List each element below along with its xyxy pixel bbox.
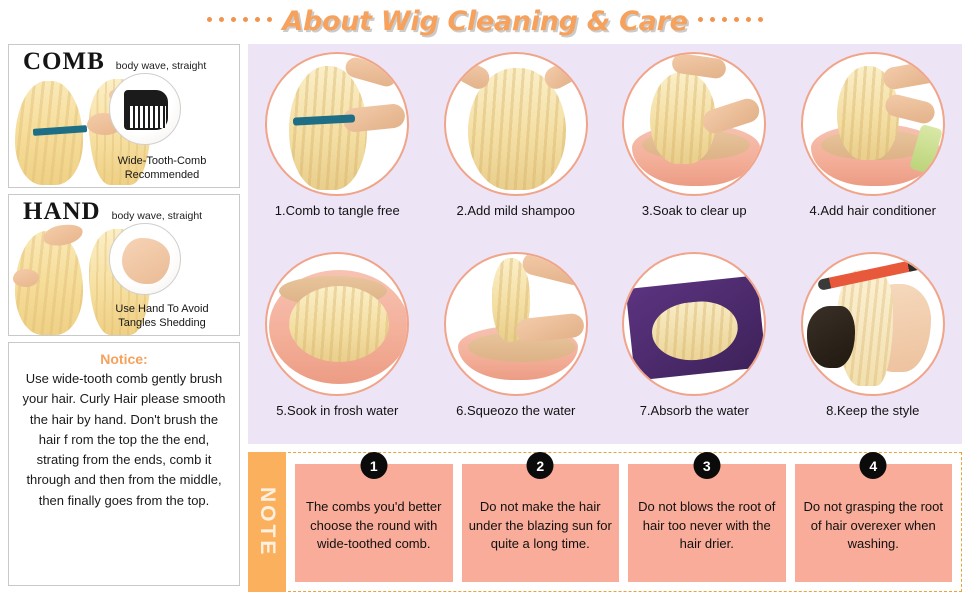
note-badge: 2 <box>527 452 554 479</box>
notice-title: Notice: <box>19 351 229 367</box>
title-dot <box>722 17 727 22</box>
note-card: 1 The combs you'd better choose the roun… <box>295 464 453 582</box>
step-6-caption: 6.Squeozo the water <box>456 403 575 418</box>
step-3: 3.Soak to clear up <box>605 44 784 244</box>
comb-panel-header: COMB body wave, straight <box>9 49 239 74</box>
note-card-text: Do not blows the root of hair too never … <box>634 498 780 555</box>
title-dot <box>758 17 763 22</box>
comb-icon <box>124 90 168 130</box>
comb-panel-subheading: body wave, straight <box>116 60 206 72</box>
step-1-image <box>265 52 409 196</box>
arm-graphic <box>881 59 942 91</box>
hand-inset-caption: Use Hand To Avoid Tangles Shedding <box>91 303 233 330</box>
comb-panel-heading: COMB <box>23 49 105 74</box>
step-4-image <box>801 52 945 196</box>
title-dot <box>231 17 236 22</box>
comb-panel: COMB body wave, straight Wide-Tooth-Comb… <box>8 44 240 188</box>
hand-graphic <box>42 222 85 249</box>
wig-graphic <box>289 286 389 362</box>
step-8-caption: 8.Keep the style <box>826 403 919 418</box>
step-6: 6.Squeozo the water <box>427 244 606 444</box>
conditioner-basin-scene <box>803 54 943 194</box>
comb-wig-scene <box>267 54 407 194</box>
soak-basin-scene <box>624 54 764 194</box>
page-header: About Wig Cleaning & Care <box>0 0 970 42</box>
page-title: About Wig Cleaning & Care <box>282 6 687 37</box>
glove-graphic <box>807 306 855 368</box>
note-card-text: Do not make the hair under the blazing s… <box>468 498 614 555</box>
title-dot <box>267 17 272 22</box>
step-4: 4.Add hair conditioner <box>784 44 963 244</box>
hand-panel-header: HAND body wave, straight <box>9 199 239 224</box>
step-2: 2.Add mild shampoo <box>427 44 606 244</box>
title-dots-right <box>698 17 763 25</box>
note-card-text: Do not grasping the root of hair overexe… <box>801 498 947 555</box>
title-dot <box>243 17 248 22</box>
style-model-scene <box>803 254 943 394</box>
step-5-caption: 5.Sook in frosh water <box>276 403 398 418</box>
cleaning-steps-panel: 1.Comb to tangle free 2.Add mild shampoo <box>248 44 962 444</box>
title-dot <box>698 17 703 22</box>
step-7-caption: 7.Absorb the water <box>640 403 749 418</box>
hand-inset-caption-line1: Use Hand To Avoid <box>91 303 233 316</box>
comb-inset-caption: Wide-Tooth-Comb Recommended <box>91 155 233 182</box>
step-3-caption: 3.Soak to clear up <box>642 203 747 218</box>
hand-inset-caption-line2: Tangles Shedding <box>91 317 233 330</box>
shampoo-wig-scene <box>446 54 586 194</box>
hand-panel: HAND body wave, straight Use Hand To Avo… <box>8 194 240 336</box>
steps-grid: 1.Comb to tangle free 2.Add mild shampoo <box>248 44 962 444</box>
step-8: 8.Keep the style <box>784 244 963 444</box>
arm-graphic <box>520 252 587 287</box>
hand-inset-circle <box>109 223 181 295</box>
step-2-image <box>444 52 588 196</box>
hand-panel-subheading: body wave, straight <box>112 210 202 222</box>
step-4-caption: 4.Add hair conditioner <box>810 203 936 218</box>
step-2-caption: 2.Add mild shampoo <box>456 203 575 218</box>
title-dots-left <box>207 17 272 25</box>
title-dot <box>219 17 224 22</box>
notice-body: Use wide-tooth comb gently brush your ha… <box>19 369 229 511</box>
title-dot <box>255 17 260 22</box>
step-6-image <box>444 252 588 396</box>
note-label: NOTE <box>255 487 279 557</box>
note-card: 4 Do not grasping the root of hair overe… <box>795 464 953 582</box>
note-label-tab: NOTE <box>248 452 286 592</box>
note-badge: 1 <box>360 452 387 479</box>
squeeze-water-scene <box>446 254 586 394</box>
note-card: 2 Do not make the hair under the blazing… <box>462 464 620 582</box>
title-dot <box>710 17 715 22</box>
note-section: NOTE 1 The combs you'd better choose the… <box>248 452 962 592</box>
step-1: 1.Comb to tangle free <box>248 44 427 244</box>
step-8-image <box>801 252 945 396</box>
towel-absorb-scene <box>624 254 764 394</box>
fresh-water-basin-scene <box>267 254 407 394</box>
note-card: 3 Do not blows the root of hair too neve… <box>628 464 786 582</box>
title-dot <box>746 17 751 22</box>
title-dot <box>207 17 212 22</box>
step-5-image <box>265 252 409 396</box>
note-card-text: The combs you'd better choose the round … <box>301 498 447 555</box>
note-badge: 4 <box>860 452 887 479</box>
hand-panel-heading: HAND <box>23 199 101 224</box>
left-sidebar: COMB body wave, straight Wide-Tooth-Comb… <box>8 44 240 592</box>
comb-inset-caption-line1: Wide-Tooth-Comb <box>91 155 233 168</box>
hand-icon <box>122 238 170 284</box>
comb-inset-caption-line2: Recommended <box>91 169 233 182</box>
step-5: 5.Sook in frosh water <box>248 244 427 444</box>
step-3-image <box>622 52 766 196</box>
comb-inset-circle <box>109 73 181 145</box>
step-7: 7.Absorb the water <box>605 244 784 444</box>
step-1-caption: 1.Comb to tangle free <box>275 203 400 218</box>
note-card-list: 1 The combs you'd better choose the roun… <box>286 453 961 591</box>
title-dot <box>734 17 739 22</box>
step-7-image <box>622 252 766 396</box>
notice-panel: Notice: Use wide-tooth comb gently brush… <box>8 342 240 586</box>
note-badge: 3 <box>693 452 720 479</box>
